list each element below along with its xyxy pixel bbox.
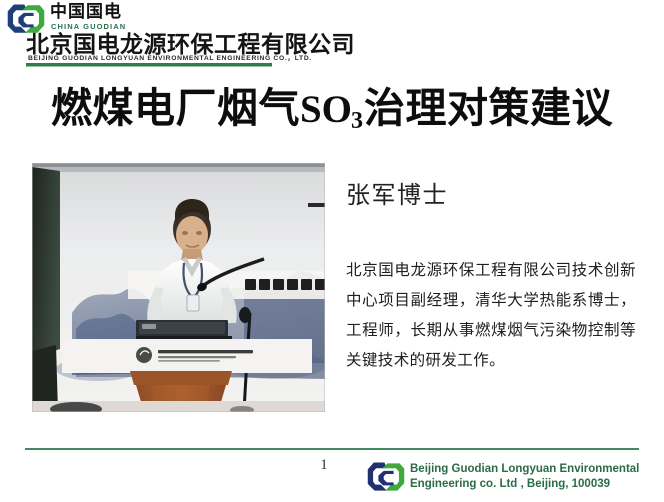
- slide-title-prefix: 燃煤电厂烟气: [51, 85, 300, 131]
- footer-divider: [25, 448, 639, 450]
- slide-title-formula-subscript: 3: [351, 108, 363, 134]
- footer-company-line2: Engineering co. Ltd , Beijing, 100039: [410, 477, 639, 492]
- speaker-photo: [32, 163, 325, 412]
- slide-title-formula-base: SO: [300, 88, 352, 131]
- guodian-footer-logo-icon: [367, 459, 405, 495]
- page-number: 1: [312, 455, 336, 475]
- speaker-bio: 北京国电龙源环保工程有限公司技术创新中心项目副经理，清华大学热能系博士，工程师，…: [346, 256, 636, 376]
- brand-name-en: CHINA GUODIAN: [51, 22, 126, 31]
- header-divider-shadow: [26, 66, 272, 67]
- speaker-name: 张军博士: [346, 181, 448, 211]
- slide-title-suffix: 治理对策建议: [364, 85, 613, 131]
- slide-title: 燃煤电厂烟气SO3治理对策建议: [0, 82, 664, 141]
- slide-header: 中国国电 CHINA GUODIAN 北京国电龙源环保工程有限公司 BEIJIN…: [0, 0, 664, 68]
- company-name-cn: 北京国电龙源环保工程有限公司: [26, 31, 355, 57]
- company-name-en: BEIJING GUODIAN LONGYUAN ENVIRONMENTAL E…: [28, 55, 312, 63]
- footer-company-address: Beijing Guodian Longyuan Environmental E…: [410, 462, 639, 492]
- brand-name-cn: 中国国电: [50, 2, 122, 22]
- footer-company-line1: Beijing Guodian Longyuan Environmental: [410, 462, 639, 477]
